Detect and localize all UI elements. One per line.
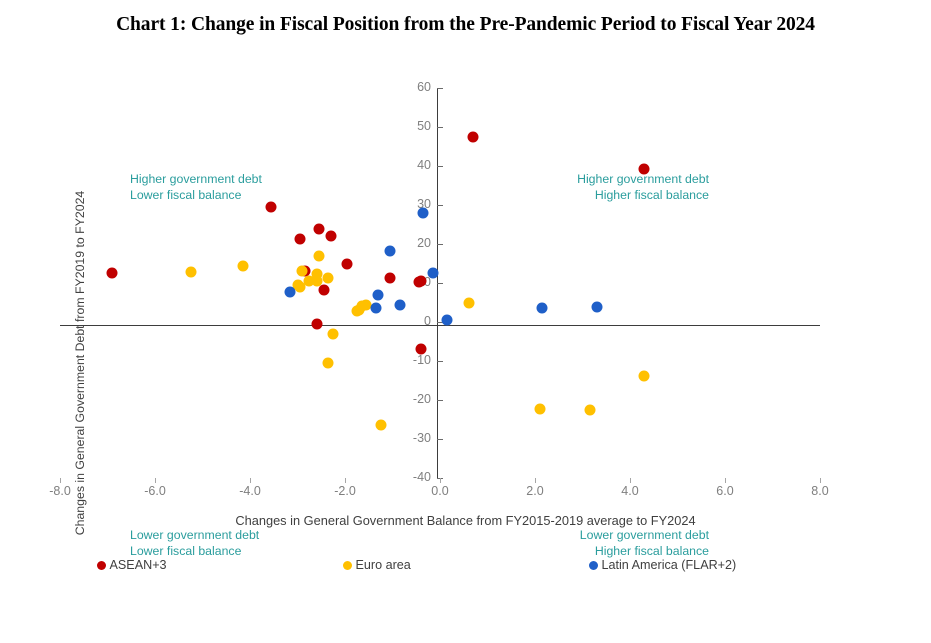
y-tick-label: 60	[417, 80, 431, 94]
legend-marker-icon	[97, 561, 106, 570]
y-tick-label-wrap: 50	[437, 127, 443, 128]
y-tick-label: -30	[413, 431, 431, 445]
x-tick-label: 4.0	[621, 484, 638, 498]
data-point	[416, 276, 427, 287]
data-point	[639, 371, 650, 382]
data-point	[294, 234, 305, 245]
legend-label: Latin America (FLAR+2)	[602, 558, 737, 572]
y-tick-label: -20	[413, 392, 431, 406]
data-point	[311, 318, 322, 329]
x-tick-label: -6.0	[144, 484, 166, 498]
data-point	[325, 230, 336, 241]
legend-item[interactable]: Latin America (FLAR+2)	[589, 558, 835, 572]
data-point	[313, 223, 324, 234]
data-point	[311, 275, 322, 286]
data-point	[185, 267, 196, 278]
y-tick-label: 40	[417, 158, 431, 172]
data-point	[418, 208, 429, 219]
x-axis-title: Changes in General Government Balance fr…	[0, 513, 931, 528]
annotation-bottom-right: Lower government debt Higher fiscal bala…	[580, 528, 709, 559]
data-point	[427, 267, 438, 278]
data-point	[584, 405, 595, 416]
y-tick-label-wrap: 40	[437, 166, 443, 167]
chart-legend: ASEAN+3Euro areaLatin America (FLAR+2)	[0, 558, 931, 572]
x-tick-mark	[345, 478, 346, 483]
data-point	[285, 287, 296, 298]
legend-label: Euro area	[356, 558, 411, 572]
x-tick-mark	[630, 478, 631, 483]
data-point	[442, 315, 453, 326]
x-tick-label: 6.0	[716, 484, 733, 498]
y-tick-label-wrap: 30	[437, 205, 443, 206]
x-tick-label: 0.0	[431, 484, 448, 498]
legend-label: ASEAN+3	[110, 558, 167, 572]
x-tick-label: 2.0	[526, 484, 543, 498]
data-point	[385, 246, 396, 257]
y-tick-label-wrap: -30	[437, 439, 443, 440]
y-tick-label: -40	[413, 470, 431, 484]
y-tick-label-wrap: 10	[437, 283, 443, 284]
y-tick-label-wrap: -20	[437, 400, 443, 401]
y-tick-label: 20	[417, 236, 431, 250]
x-tick-mark	[155, 478, 156, 483]
data-point	[266, 201, 277, 212]
annotation-top-right: Higher government debt Higher fiscal bal…	[577, 172, 709, 203]
x-tick-mark	[820, 478, 821, 483]
data-point	[537, 302, 548, 313]
x-tick-label: -4.0	[239, 484, 261, 498]
data-point	[416, 344, 427, 355]
y-tick-label: -10	[413, 353, 431, 367]
data-point	[328, 329, 339, 340]
data-point	[107, 268, 118, 279]
y-tick-label: 0	[424, 314, 431, 328]
data-point	[354, 304, 365, 315]
data-point	[534, 403, 545, 414]
plot-area: 6050403020100-10-20-30-40 -8.0-6.0-4.0-2…	[60, 88, 820, 478]
chart-container: Chart 1: Change in Fiscal Position from …	[0, 0, 931, 583]
y-tick-label-wrap: -10	[437, 361, 443, 362]
data-point	[323, 357, 334, 368]
y-tick-label-wrap: 60	[437, 88, 443, 89]
x-tick-label: -2.0	[334, 484, 356, 498]
x-tick-label: -8.0	[49, 484, 71, 498]
data-point	[370, 302, 381, 313]
legend-marker-icon	[343, 561, 352, 570]
x-tick-mark	[440, 478, 441, 483]
data-point	[373, 290, 384, 301]
data-point	[342, 259, 353, 270]
x-tick-mark	[725, 478, 726, 483]
y-tick-label-wrap: 20	[437, 244, 443, 245]
x-axis-zero-line	[60, 325, 820, 326]
x-tick-mark	[60, 478, 61, 483]
annotation-top-left: Higher government debt Lower fiscal bala…	[130, 172, 262, 203]
data-point	[463, 297, 474, 308]
x-tick-mark	[250, 478, 251, 483]
data-point	[237, 260, 248, 271]
data-point	[591, 302, 602, 313]
data-point	[323, 272, 334, 283]
annotation-bottom-left: Lower government debt Lower fiscal balan…	[130, 528, 259, 559]
data-point	[394, 300, 405, 311]
data-point	[468, 131, 479, 142]
x-tick-mark	[535, 478, 536, 483]
legend-item[interactable]: ASEAN+3	[97, 558, 343, 572]
data-point	[318, 284, 329, 295]
y-tick-label: 50	[417, 119, 431, 133]
legend-marker-icon	[589, 561, 598, 570]
data-point	[385, 272, 396, 283]
legend-item[interactable]: Euro area	[343, 558, 589, 572]
chart-title: Chart 1: Change in Fiscal Position from …	[0, 14, 931, 36]
x-tick-label: 8.0	[811, 484, 828, 498]
data-point	[375, 420, 386, 431]
data-point	[313, 250, 324, 261]
